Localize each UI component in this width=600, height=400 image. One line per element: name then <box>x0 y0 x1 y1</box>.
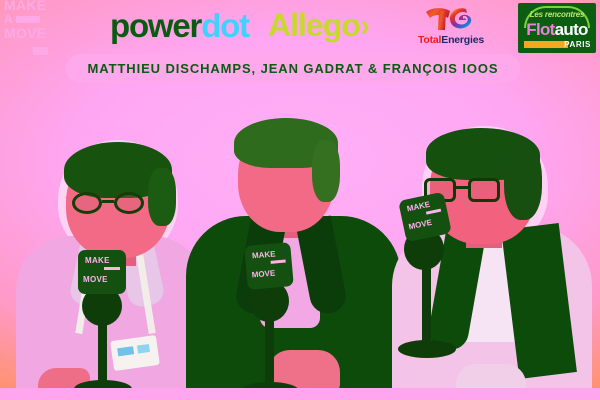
mic-center-flag: MAKE MOVE <box>244 242 294 290</box>
allego-logo[interactable]: Allego› <box>268 9 369 41</box>
mic-right-base <box>398 340 456 358</box>
allego-chevron-icon: › <box>361 5 369 45</box>
allego-logo-text: Allego <box>268 9 360 41</box>
microphone-left: MAKE MOVE <box>72 250 134 400</box>
totalenergies-logo[interactable]: TotalEnergies <box>402 3 500 53</box>
make-a-move-dash-icon <box>16 16 40 23</box>
mic-right-flag-line2: MOVE <box>408 218 433 232</box>
mic-center-flag-bar <box>271 260 286 264</box>
powerdot-logo-dot: dot <box>201 7 249 44</box>
powerdot-logo[interactable]: powerdot <box>110 9 249 42</box>
mic-right-stem <box>422 260 431 346</box>
banner-stage: MAKE MOVE MAKE MOVE <box>0 0 600 400</box>
make-a-move-line3-text: MOVE <box>4 26 46 41</box>
flotauto-city: PARIS <box>564 40 591 49</box>
flotauto-tagline: Les rencontres <box>518 10 596 19</box>
speaker-names-text: MATTHIEU DISCHAMPS, JEAN GADRAT & FRANÇO… <box>88 61 499 76</box>
make-a-move-logo[interactable]: MAKE A MOVE <box>4 3 58 55</box>
make-a-move-line3: MOVE <box>4 26 58 41</box>
mic-center-flag-line1: MAKE <box>252 249 276 260</box>
flotauto-wordmark: Flotauto <box>518 20 596 40</box>
powerdot-logo-power: power <box>110 7 201 44</box>
mic-left-flag: MAKE MOVE <box>78 250 126 294</box>
mic-right-flag-bar <box>426 209 441 215</box>
mic-left-flag-line1: MAKE <box>85 256 110 265</box>
mic-center-stem <box>265 312 274 390</box>
totalenergies-wordmark: TotalEnergies <box>418 34 484 46</box>
microphone-center: MAKE MOVE <box>240 244 302 400</box>
speaker-names-banner: MATTHIEU DISCHAMPS, JEAN GADRAT & FRANÇO… <box>66 54 520 83</box>
mic-left-flag-line2: MOVE <box>83 275 108 284</box>
table-surface <box>0 388 600 400</box>
sponsor-header: MAKE A MOVE powerdot Allego› <box>0 0 600 57</box>
totalenergies-mark-icon <box>422 3 480 33</box>
make-a-move-block-icon <box>33 47 48 55</box>
person-left-glasses <box>72 192 164 214</box>
mic-left-flag-bar <box>104 267 120 270</box>
mic-right-flag: MAKE MOVE <box>398 192 452 243</box>
microphone-right: MAKE MOVE <box>398 196 460 366</box>
flotauto-logo[interactable]: Les rencontres Flotauto PARIS <box>518 3 596 53</box>
mic-center-flag-line2: MOVE <box>251 269 275 280</box>
flotauto-underline-icon <box>524 41 568 48</box>
flotauto-word-flot: Flot <box>526 20 554 39</box>
totalenergies-word-energies: Energies <box>441 34 484 46</box>
mic-left-stem <box>98 316 107 388</box>
totalenergies-word-total: Total <box>418 34 441 46</box>
person-center-hair-side <box>312 140 340 202</box>
flotauto-word-auto: auto <box>555 20 588 39</box>
